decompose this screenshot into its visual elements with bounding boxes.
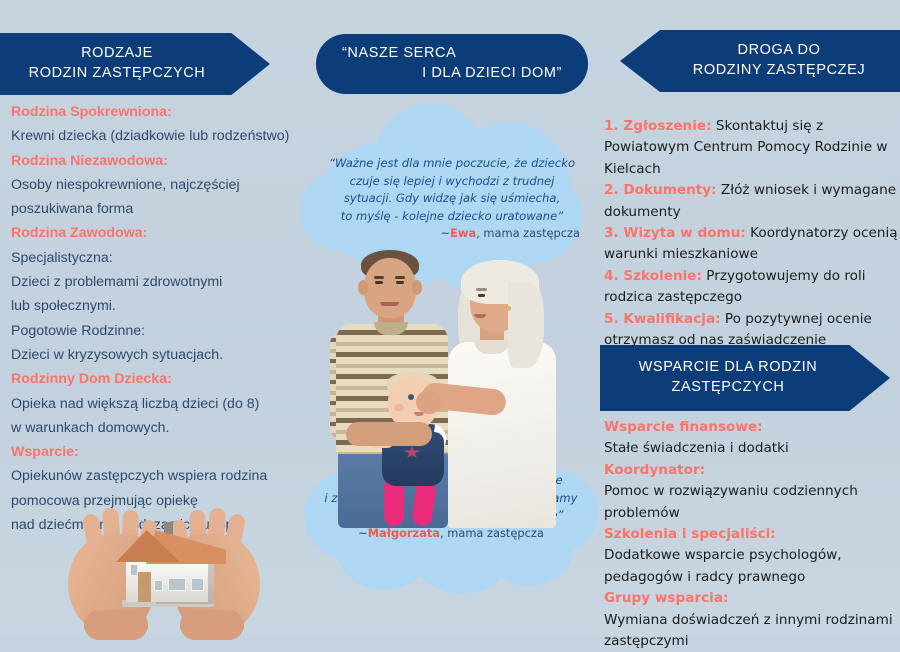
banner-path-to-foster-family: DROGA DO RODZINY ZASTĘPCZEJ <box>620 30 900 92</box>
steps-list: 1. Zgłoszenie: Skontaktuj się z Powiatow… <box>604 116 900 351</box>
hands-holding-house-photo <box>60 500 300 636</box>
quote-top: “Ważne jest dla mnie poczucie, że dzieck… <box>318 155 586 243</box>
step-item: 4. Szkolenie: Przygotowujemy do roli rod… <box>604 266 900 309</box>
family-type-line: lub społecznymi. <box>11 294 321 318</box>
banner-slogan: “NASZE SERCA I DLA DZIECI DOM” <box>316 34 588 94</box>
support-heading: Szkolenia i specjaliści: <box>604 524 900 545</box>
man-ear-right <box>412 280 422 295</box>
woman-torso <box>448 342 556 528</box>
banner-slogan-line2: I DLA DZIECI DOM” <box>342 64 562 84</box>
house-window <box>154 580 163 591</box>
support-text: Wymiana doświadczeń z innymi rodzinami z… <box>604 610 900 652</box>
step-heading: 4. Szkolenie: <box>604 268 702 284</box>
banner-family-types-line2: RODZIN ZASTĘPCZYCH <box>29 64 206 84</box>
family-type-line: Krewni dziecka (dziadkowie lub rodzeństw… <box>11 124 321 148</box>
baby-eye-left <box>408 394 414 400</box>
family-type-heading: Wsparcie: <box>11 440 321 464</box>
family-type-line: Dzieci z problemami zdrowotnymi <box>11 270 321 294</box>
family-type-line: w warunkach domowych. <box>11 416 321 440</box>
woman-hair-side <box>508 282 544 368</box>
quote-top-line-3: to myślę - kolejne dziecko uratowane” <box>318 208 586 226</box>
woman-earring <box>506 306 511 311</box>
quote-top-line-1: czuje się lepiej i wychodzi z trudnej <box>318 173 586 191</box>
banner-path-line1: DROGA DO <box>738 41 821 61</box>
house-window <box>130 564 138 576</box>
step-item: 2. Dokumenty: Złóż wniosek i wymagane do… <box>604 180 900 223</box>
man-eye-left <box>375 281 383 284</box>
house-window <box>191 578 204 591</box>
step-heading: 3. Wizyta w domu: <box>604 225 746 241</box>
step-heading: 1. Zgłoszenie: <box>604 118 712 134</box>
family-type-line: Pogotowie Rodzinne: <box>11 319 321 343</box>
woman-hand <box>416 390 442 414</box>
banner-support-for-families: WSPARCIE DLA RODZIN ZASTĘPCZYCH <box>600 345 890 411</box>
man-mouth <box>380 302 399 306</box>
family-type-line: Dzieci w kryzysowych sytuacjach. <box>11 343 321 367</box>
support-heading: Koordynator: <box>604 460 900 481</box>
step-heading: 2. Dokumenty: <box>604 182 717 198</box>
step-heading: 5. Kwalifikacja: <box>604 311 721 327</box>
support-text: Pomoc w rozwiązywaniu codziennych proble… <box>604 481 900 524</box>
family-type-heading: Rodzina Niezawodowa: <box>11 149 321 173</box>
banner-support-line1: WSPARCIE DLA RODZIN <box>639 358 818 378</box>
house-window <box>168 578 186 591</box>
man-forearm <box>346 422 432 446</box>
family-type-heading: Rodzinny Dom Dziecka: <box>11 367 321 391</box>
banner-support-line2: ZASTĘPCZYCH <box>672 378 785 398</box>
man-eye-right <box>396 281 404 284</box>
quote-top-line-0: “Ważne jest dla mnie poczucie, że dzieck… <box>318 155 586 173</box>
foster-family-photo <box>330 236 568 526</box>
man-eyebrow-right <box>395 276 405 279</box>
step-item: 1. Zgłoszenie: Skontaktuj się z Powiatow… <box>604 116 900 180</box>
woman-mouth <box>474 314 486 318</box>
family-type-heading: Rodzina Spokrewniona: <box>11 100 321 124</box>
family-type-line: poszukiwana forma <box>11 197 321 221</box>
support-text: Dodatkowe wsparcie psychologów, pedagogó… <box>604 545 900 588</box>
banner-slogan-line1: “NASZE SERCA <box>342 44 562 64</box>
family-type-line: Osoby niespokrewnione, najczęściej <box>11 173 321 197</box>
woman-eye <box>478 294 485 297</box>
quote-top-line-2: sytuacji. Gdy widzę jak się uśmiecha, <box>318 190 586 208</box>
step-item: 5. Kwalifikacja: Po pozytywnej ocenie ot… <box>604 309 900 352</box>
family-type-line: Opieka nad większą liczbą dzieci (do 8) <box>11 392 321 416</box>
baby-cheek <box>394 404 404 411</box>
step-item: 3. Wizyta w domu: Koordynatorzy ocenią w… <box>604 223 900 266</box>
man-face <box>364 258 416 318</box>
support-heading: Wsparcie finansowe: <box>604 417 900 438</box>
banner-family-types-line1: RODZAJE <box>81 44 153 64</box>
family-type-heading: Rodzina Zawodowa: <box>11 221 321 245</box>
woman-eyebrow <box>476 288 487 291</box>
family-type-line: Opiekunów zastępczych wspiera rodzina <box>11 464 321 488</box>
man-eyebrow-left <box>374 276 384 279</box>
banner-family-types: RODZAJE RODZIN ZASTĘPCZYCH <box>0 33 270 95</box>
banner-path-line2: RODZINY ZASTĘPCZEJ <box>693 61 865 81</box>
house-door <box>138 572 151 602</box>
man-ear-left <box>358 280 368 295</box>
family-type-line: Specjalistyczna: <box>11 246 321 270</box>
family-types-list: Rodzina Spokrewniona:Krewni dziecka (dzi… <box>11 100 321 537</box>
support-heading: Grupy wsparcia: <box>604 588 900 609</box>
support-text: Stałe świadczenia i dodatki <box>604 438 900 459</box>
support-list: Wsparcie finansowe:Stałe świadczenia i d… <box>604 417 900 652</box>
